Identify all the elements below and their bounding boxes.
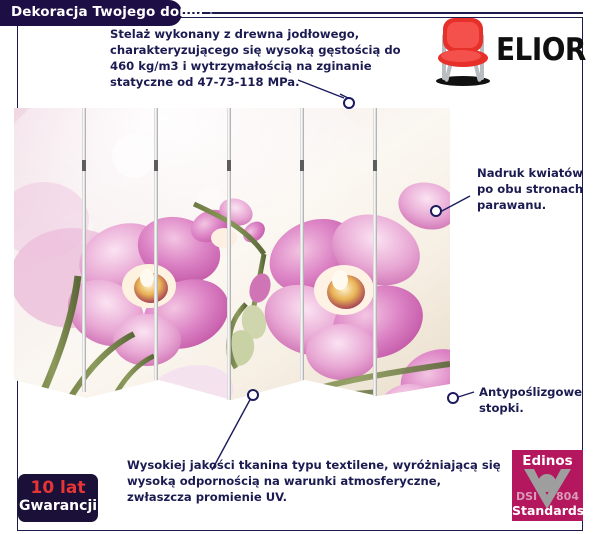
- certificate-right-code: 804: [556, 490, 579, 503]
- certificate-label: Standards: [512, 503, 583, 518]
- product-infographic: Dekoracja Twojego domu ! ELIOR: [0, 0, 601, 534]
- brand-logo: ELIOR: [432, 14, 580, 90]
- certificate-left-code: DSI: [516, 490, 537, 503]
- warranty-badge: 10 lat Gwarancji: [18, 474, 98, 522]
- warranty-label: Gwarancji: [18, 498, 98, 514]
- red-chair-icon: [432, 14, 494, 88]
- banner-title: Dekoracja Twojego domu !: [11, 4, 214, 20]
- callout-marker-frame: [343, 97, 355, 109]
- callout-marker-fabric: [247, 389, 259, 401]
- callout-marker-feet: [447, 392, 459, 404]
- brand-name: ELIOR: [496, 32, 586, 68]
- certificate-badge: Edinos DSI 804 Standards: [512, 450, 583, 521]
- warranty-years: 10 lat: [18, 478, 98, 498]
- header-banner: Dekoracja Twojego domu !: [0, 0, 182, 26]
- callout-marker-print: [430, 205, 442, 217]
